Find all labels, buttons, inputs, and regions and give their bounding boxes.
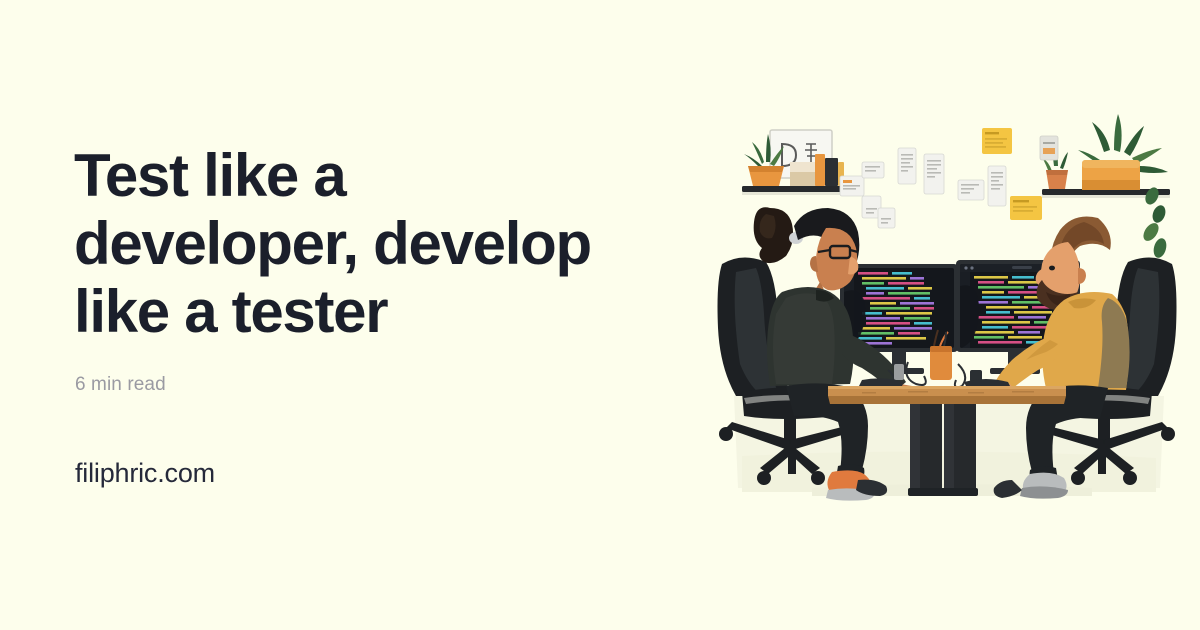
desk-edge bbox=[828, 396, 1066, 404]
read-time-label: 6 min read bbox=[75, 372, 166, 398]
site-name-label: filiphric.com bbox=[75, 456, 215, 490]
floating-card-5 bbox=[924, 154, 944, 194]
floating-card-7 bbox=[988, 166, 1006, 206]
shelf-shadow-left bbox=[742, 192, 846, 195]
floating-card-6 bbox=[958, 180, 984, 200]
desk-device-1 bbox=[894, 364, 904, 380]
desk-foot bbox=[908, 488, 978, 496]
shelf-book-orange bbox=[815, 154, 825, 186]
hero-illustration bbox=[712, 96, 1182, 526]
floating-card-9 bbox=[878, 208, 895, 228]
shelf-book-dark bbox=[825, 158, 838, 186]
floating-card-2 bbox=[862, 162, 884, 178]
floating-sticky-yellow-2 bbox=[1010, 196, 1042, 220]
man-eye bbox=[1049, 266, 1055, 271]
shelf-board-left bbox=[742, 186, 846, 192]
floating-sticky-yellow-1 bbox=[982, 128, 1012, 154]
og-card: Test like a developer, develop like a te… bbox=[0, 0, 1200, 630]
floating-card-8 bbox=[1040, 136, 1058, 160]
illustration-svg bbox=[712, 96, 1182, 526]
floating-card-1 bbox=[840, 176, 864, 196]
text-column: Test like a developer, develop like a te… bbox=[74, 0, 694, 630]
floating-card-4 bbox=[898, 148, 916, 184]
page-title: Test like a developer, develop like a te… bbox=[74, 142, 684, 346]
